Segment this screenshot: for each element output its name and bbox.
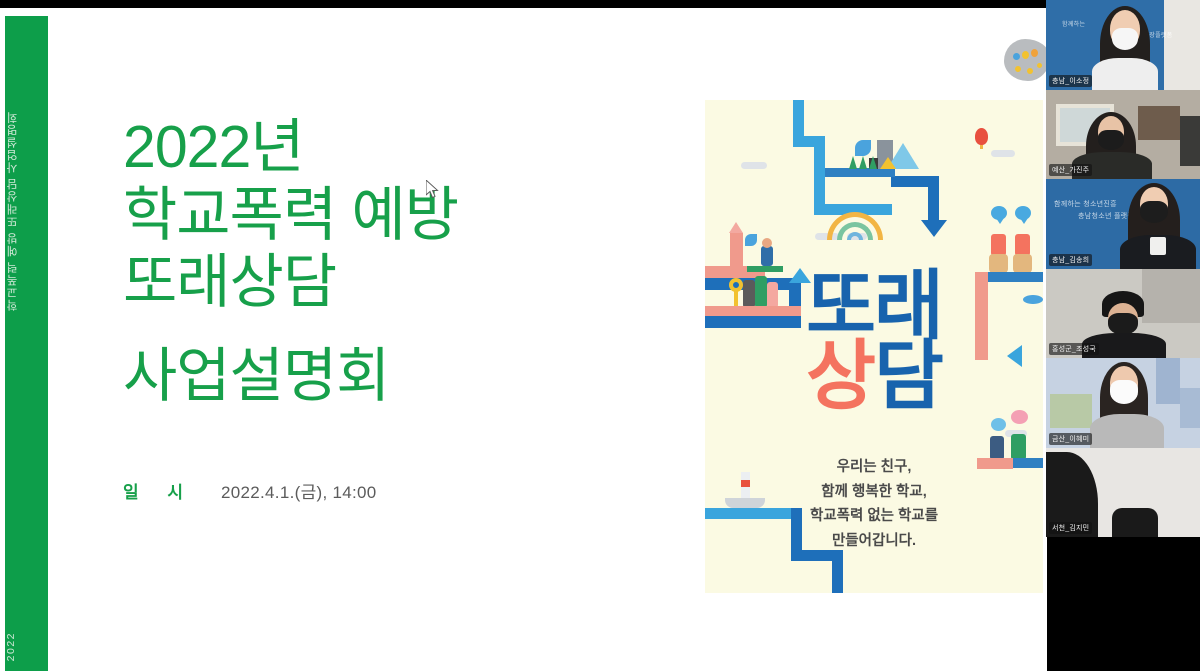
datetime-label: 일 시: [123, 478, 195, 503]
poster-pipe-f: [928, 176, 939, 224]
sidebar-vertical-title: 학교폭력 예방 또래상담 사업설명회: [5, 111, 48, 311]
poster-subtitle: 우리는 친구, 함께 행복한 학교, 학교폭력 없는 학교를 만들어갑니다.: [705, 455, 1043, 554]
video-tile-3-banner-2: 충남청소년 플랫폼: [1078, 211, 1134, 221]
video-tile-3-name-label: 충남_김송희: [1049, 254, 1092, 266]
poster-person-c: [743, 280, 755, 308]
sidebar-vertical-year: 2022: [5, 632, 48, 661]
video-tile-6-foreground-object-2: [1112, 508, 1158, 538]
poster-rainbow-icon: [827, 212, 883, 240]
video-tile-2-shelf: [1138, 106, 1180, 140]
poster-image: 또래 상담: [705, 100, 1043, 593]
poster-tree-2: [859, 156, 867, 169]
slide-title-line-2: 학교폭력 예방: [123, 184, 683, 248]
poster-drum-1: [989, 254, 1008, 273]
poster-tree-3: [869, 156, 877, 169]
poster-speech-bubble-2: [1015, 206, 1031, 220]
slide-title-block: 2022년 학교폭력 예방 또래상담 사업설명회: [123, 116, 683, 409]
poster-person-b: [1015, 234, 1030, 256]
poster-speech-bubble-4: [991, 418, 1006, 431]
shared-slide: 학교폭력 예방 또래상담 사업설명회 2022 2022년 학교폭력 예방 또래…: [0, 8, 1047, 671]
poster-key-icon: [729, 278, 743, 292]
poster-subtitle-line-1: 우리는 친구,: [705, 455, 1043, 480]
video-tile-5-name-label: 금산_이혜미: [1049, 433, 1092, 445]
video-tile-4-face-mask: [1108, 313, 1138, 335]
poster-person-d: [755, 276, 767, 308]
video-tile-3-collar: [1150, 237, 1166, 255]
poster-pencil-tip-icon: [729, 222, 743, 233]
slide-title-line-4: 사업설명회: [123, 345, 683, 409]
poster-subtitle-line-3: 학교폭력 없는 학교를: [705, 504, 1043, 529]
poster-cloud-2: [991, 150, 1015, 157]
video-tile-4-wall-panel: [1142, 269, 1200, 323]
poster-pipe-c: [814, 136, 825, 214]
organization-logo-icon: [1004, 39, 1047, 81]
video-tile-1-banner-1: 함께하는: [1062, 19, 1085, 28]
poster-arrow-down-icon: [921, 220, 947, 237]
poster-airplane-icon: [1023, 295, 1043, 304]
datetime-value: 2022.4.1.(금), 14:00: [221, 478, 377, 503]
poster-tree-1: [849, 156, 857, 169]
video-tile-4-name-label: 홍성군_조성국: [1049, 343, 1099, 355]
video-tile-2-equipment: [1180, 116, 1200, 166]
video-tile-6-name-label: 서천_김지민: [1049, 522, 1092, 534]
poster-arrow-left-icon: [1007, 345, 1022, 367]
video-tile-4[interactable]: 홍성군_조성국: [1046, 269, 1200, 359]
poster-windmill-icon: [855, 140, 871, 156]
poster-pipe-l: [705, 306, 801, 316]
poster-title-line-2: 상담: [705, 342, 1043, 412]
slide-title-line-1: 2022년: [123, 116, 683, 180]
video-tile-3-banner-1: 함께하는 청소년진흥: [1054, 199, 1117, 209]
poster-person-kid-head: [762, 238, 772, 248]
poster-arrow-up-icon: [789, 268, 811, 283]
video-tile-1-name-label: 충남_이소정: [1049, 75, 1092, 87]
poster-tent-icon: [880, 157, 896, 169]
screen-root: 학교폭력 예방 또래상담 사업설명회 2022 2022년 학교폭력 예방 또래…: [0, 0, 1200, 671]
video-tile-5-face-mask: [1110, 380, 1138, 404]
poster-hot-air-balloon-icon: [975, 128, 988, 145]
video-tile-5-torso: [1090, 414, 1164, 448]
video-tile-1-wall: [1164, 0, 1200, 90]
poster-cloud-1: [741, 162, 767, 169]
poster-person-kid: [761, 246, 773, 266]
video-tile-2-face-mask: [1098, 130, 1124, 150]
poster-title-char-dam: 담: [874, 334, 942, 419]
poster-speech-bubble-3: [997, 252, 998, 253]
poster-pipe-p: [832, 550, 843, 593]
poster-person-a: [991, 234, 1006, 256]
poster-pinwheel-icon: [745, 234, 757, 246]
poster-person-e: [767, 282, 778, 308]
video-tile-5-wall-tile-a: [1156, 358, 1180, 404]
video-tile-2[interactable]: 예산_가진주: [1046, 90, 1200, 180]
poster-speech-bubble-1: [991, 206, 1007, 220]
video-tile-5[interactable]: 금산_이혜미: [1046, 358, 1200, 448]
video-tile-5-furniture: [1050, 394, 1092, 428]
video-tile-3-face-mask: [1140, 201, 1168, 223]
slide-datetime-row: 일 시 2022.4.1.(금), 14:00: [123, 478, 377, 503]
slide-green-sidebar: 학교폭력 예방 또래상담 사업설명회 2022: [5, 16, 48, 671]
poster-drum-2: [1013, 254, 1032, 273]
mouse-cursor-icon: [426, 180, 440, 200]
poster-ledge-city: [825, 168, 895, 177]
poster-pencil-body: [730, 233, 743, 267]
video-tile-6[interactable]: 서천_김지민: [1046, 448, 1200, 538]
video-tile-1-torso: [1092, 58, 1158, 90]
video-tile-2-name-label: 예산_가진주: [1049, 164, 1092, 176]
participant-video-strip[interactable]: 함께하는 청소년 성장플랫폼 충남_이소정 예산_가진주 함께하는 청소년진흥 …: [1046, 0, 1200, 537]
video-tile-1-face-mask: [1112, 28, 1138, 50]
video-tile-1[interactable]: 함께하는 청소년 성장플랫폼 충남_이소정: [1046, 0, 1200, 90]
video-tile-3[interactable]: 함께하는 청소년진흥 충남청소년 플랫폼 충남_김송희: [1046, 179, 1200, 269]
video-tile-5-wall-tile-b: [1180, 388, 1200, 428]
poster-subtitle-line-4: 만들어갑니다.: [705, 529, 1043, 554]
slide-title-line-3: 또래상담: [123, 251, 683, 315]
poster-title-char-sang: 상: [806, 334, 874, 419]
poster-speech-bubble-5: [1011, 410, 1028, 424]
poster-subtitle-line-2: 함께 행복한 학교,: [705, 480, 1043, 505]
